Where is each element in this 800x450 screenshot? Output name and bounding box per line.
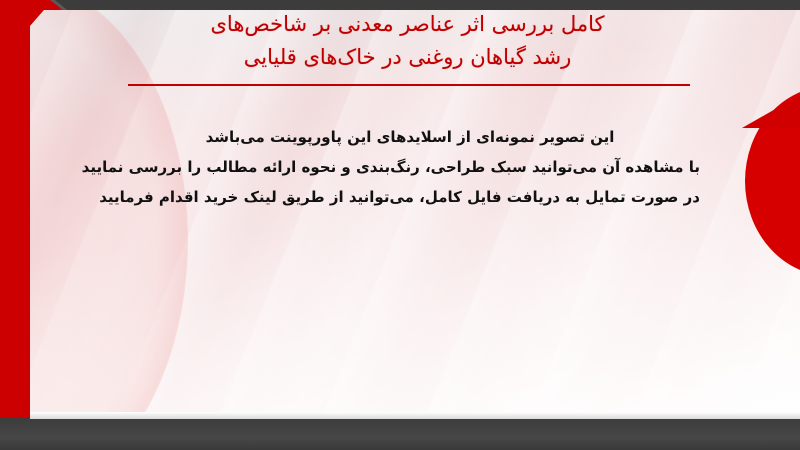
presentation-slide: کامل بررسی اثر عناصر معدنی بر شاخص‌های ر… — [0, 0, 800, 450]
slide-title-line-2: رشد گیاهان روغنی در خاک‌های قلیایی — [120, 41, 695, 74]
slide-title: کامل بررسی اثر عناصر معدنی بر شاخص‌های ر… — [120, 8, 695, 74]
slide-title-line-1: کامل بررسی اثر عناصر معدنی بر شاخص‌های — [120, 8, 695, 41]
slide-bottom-band — [0, 418, 800, 450]
body-line-3: در صورت تمایل به دریافت فایل کامل، می‌تو… — [120, 182, 700, 212]
slide-body-text: این تصویر نمونه‌ای از اسلایدهای این پاور… — [120, 122, 700, 212]
body-line-2: با مشاهده آن می‌توانید سبک طراحی، رنگ‌بن… — [120, 152, 700, 182]
body-line-1: این تصویر نمونه‌ای از اسلایدهای این پاور… — [120, 122, 700, 152]
title-underline-rule — [128, 84, 690, 86]
